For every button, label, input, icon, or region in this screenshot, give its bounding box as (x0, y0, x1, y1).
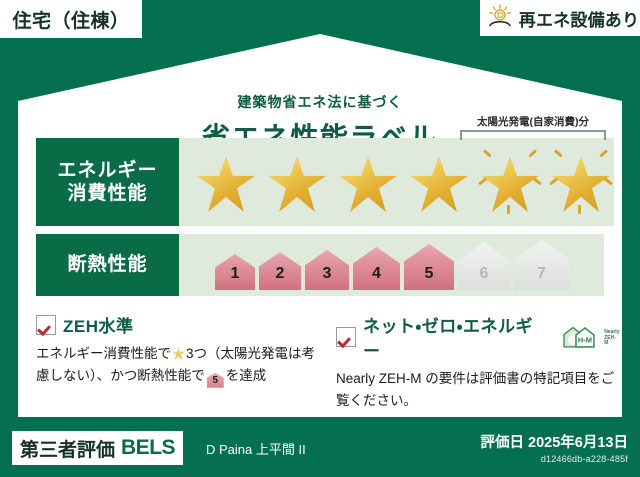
solar-annotation-bracket (460, 130, 606, 140)
sun-icon (487, 4, 513, 33)
house-type-tag: 住宅（住棟） (0, 0, 142, 38)
label-subtitle: 建築物省エネ法に基づく (18, 92, 622, 112)
bels-jp-label: 第三者評価 (20, 435, 115, 462)
insulation-performance-key: 断熱性能 (36, 234, 179, 296)
renewable-equipment-label: 再エネ設備あり (519, 6, 639, 31)
insulation-level-3: 3 (305, 250, 349, 290)
label-card: 建築物省エネ法に基づく 省エネ性能ラベル エネルギー 消費性能 太陽光発電(自家… (18, 34, 622, 417)
star-rating (179, 150, 614, 214)
star-icon (264, 150, 330, 214)
insulation-level-4: 4 (353, 247, 400, 290)
property-name: D Paina 上平間 II (206, 439, 306, 458)
note-zeh-standard: ZEH水準 エネルギー消費性能で3つ（太陽光発電は考慮しない）、かつ断熱性能で5… (36, 312, 320, 413)
sparkle-marks (477, 150, 543, 214)
zeh-note-body: エネルギー消費性能で3つ（太陽光発電は考慮しない）、かつ断熱性能で5を達成 (36, 343, 320, 388)
bels-badge: 第三者評価 BELS (12, 431, 183, 465)
energy-performance-label: 住宅（住棟） 再エネ設備あり 建築物省エネ法に基づく 省エネ性能ラベル (0, 0, 640, 477)
star-icon-solar (548, 150, 614, 214)
energy-performance-key: エネルギー 消費性能 (36, 138, 179, 226)
energy-key-line1: エネルギー (57, 160, 157, 181)
insulation-performance-row: 断熱性能 1 2 3 4 5 6 (36, 234, 604, 296)
star-icon-solar (477, 150, 543, 214)
insulation-level-1: 1 (215, 254, 255, 290)
energy-key-line2: 消費性能 (67, 183, 147, 204)
sparkle-marks (548, 150, 614, 214)
document-id: d12466db-a228-485f (481, 454, 628, 464)
star-icon (172, 347, 185, 360)
insulation-level-6: 6 (458, 242, 510, 290)
star-icon (335, 150, 401, 214)
notes-section: ZEH水準 エネルギー消費性能で3つ（太陽光発電は考慮しない）、かつ断熱性能で5… (36, 312, 620, 413)
zeh-note-text-1: エネルギー消費性能で (36, 346, 171, 361)
star-icon (193, 150, 259, 214)
svg-text:H-M: H-M (578, 335, 592, 344)
energy-performance-value: 太陽光発電(自家消費)分 (179, 138, 614, 226)
note-net-zero-energy: ネット・ゼロ・エネルギー H-M Nearly ZEH-M (336, 312, 620, 413)
insulation-level-5: 5 (404, 244, 454, 290)
zeh-note-title: ZEH水準 (63, 312, 134, 337)
zeh-note-text-3: を達成 (226, 368, 267, 383)
energy-performance-row: エネルギー 消費性能 太陽光発電(自家消費)分 (36, 138, 604, 226)
zeh-m-logo-caption: Nearly ZEH-M (604, 330, 620, 349)
insulation-level-2: 2 (259, 252, 301, 290)
label-footer: 第三者評価 BELS D Paina 上平間 II 評価日 2025年6月13日… (0, 421, 640, 477)
nze-checkbox-icon (336, 327, 356, 347)
solar-annotation-label: 太陽光発電(自家消費)分 (458, 114, 608, 129)
zeh-checkbox-icon (36, 315, 56, 335)
insulation-level-7: 7 (514, 240, 569, 290)
house-badge-icon: 5 (207, 373, 224, 388)
nze-note-title: ネット・ゼロ・エネルギー (363, 312, 550, 362)
evaluation-date: 評価日 2025年6月13日 (481, 431, 628, 452)
star-icon (406, 150, 472, 214)
insulation-level-scale: 1 2 3 4 5 6 7 (179, 240, 569, 290)
renewable-equipment-badge: 再エネ設備あり (480, 0, 640, 36)
insulation-performance-value: 1 2 3 4 5 6 7 (179, 234, 604, 296)
nze-note-body: Nearly ZEH-M の要件は評価書の特記項目をご覧ください。 (336, 368, 620, 413)
house-type-label: 住宅（住棟） (12, 6, 129, 33)
insulation-key-label: 断熱性能 (67, 253, 147, 276)
evaluation-meta: 評価日 2025年6月13日 d12466db-a228-485f (481, 431, 628, 464)
zeh-m-logo: H-M Nearly ZEH-M (562, 325, 620, 349)
bels-en-label: BELS (121, 436, 175, 460)
